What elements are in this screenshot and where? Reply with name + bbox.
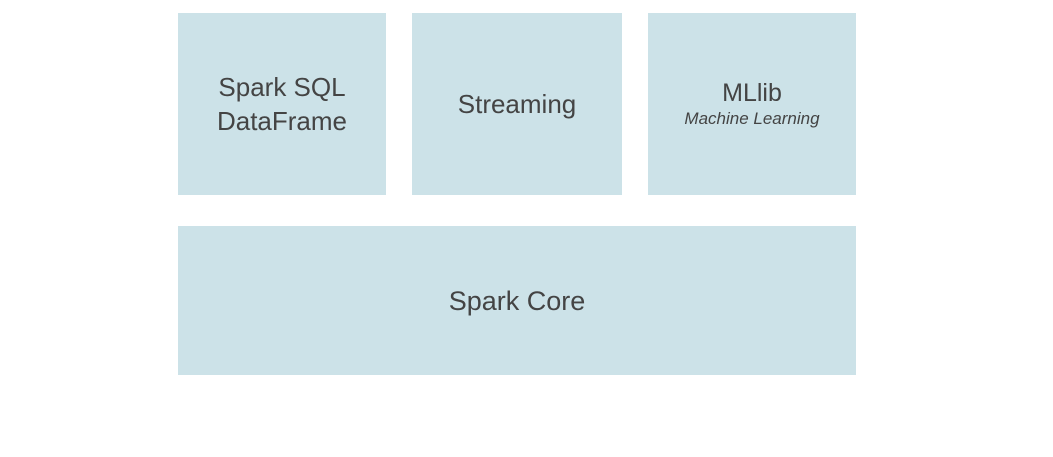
spark-sql-label-line1: Spark SQL xyxy=(218,70,345,104)
component-box-mllib[interactable]: MLlib Machine Learning xyxy=(648,13,856,195)
streaming-label: Streaming xyxy=(458,87,577,121)
spark-stack-diagram: Spark SQL DataFrame Streaming MLlib Mach… xyxy=(0,0,1053,457)
mllib-label: MLlib xyxy=(722,78,782,108)
spark-core-label-stack: Spark Core xyxy=(449,285,586,317)
spark-core-label: Spark Core xyxy=(449,285,586,317)
spark-sql-label-line2: DataFrame xyxy=(217,104,347,138)
component-box-spark-sql[interactable]: Spark SQL DataFrame xyxy=(178,13,386,195)
spark-sql-label-stack: Spark SQL DataFrame xyxy=(217,70,347,138)
component-box-streaming[interactable]: Streaming xyxy=(412,13,622,195)
streaming-label-stack: Streaming xyxy=(458,87,577,121)
mllib-label-stack: MLlib Machine Learning xyxy=(684,78,819,130)
component-box-spark-core[interactable]: Spark Core xyxy=(178,226,856,375)
mllib-subtitle: Machine Learning xyxy=(684,108,819,130)
